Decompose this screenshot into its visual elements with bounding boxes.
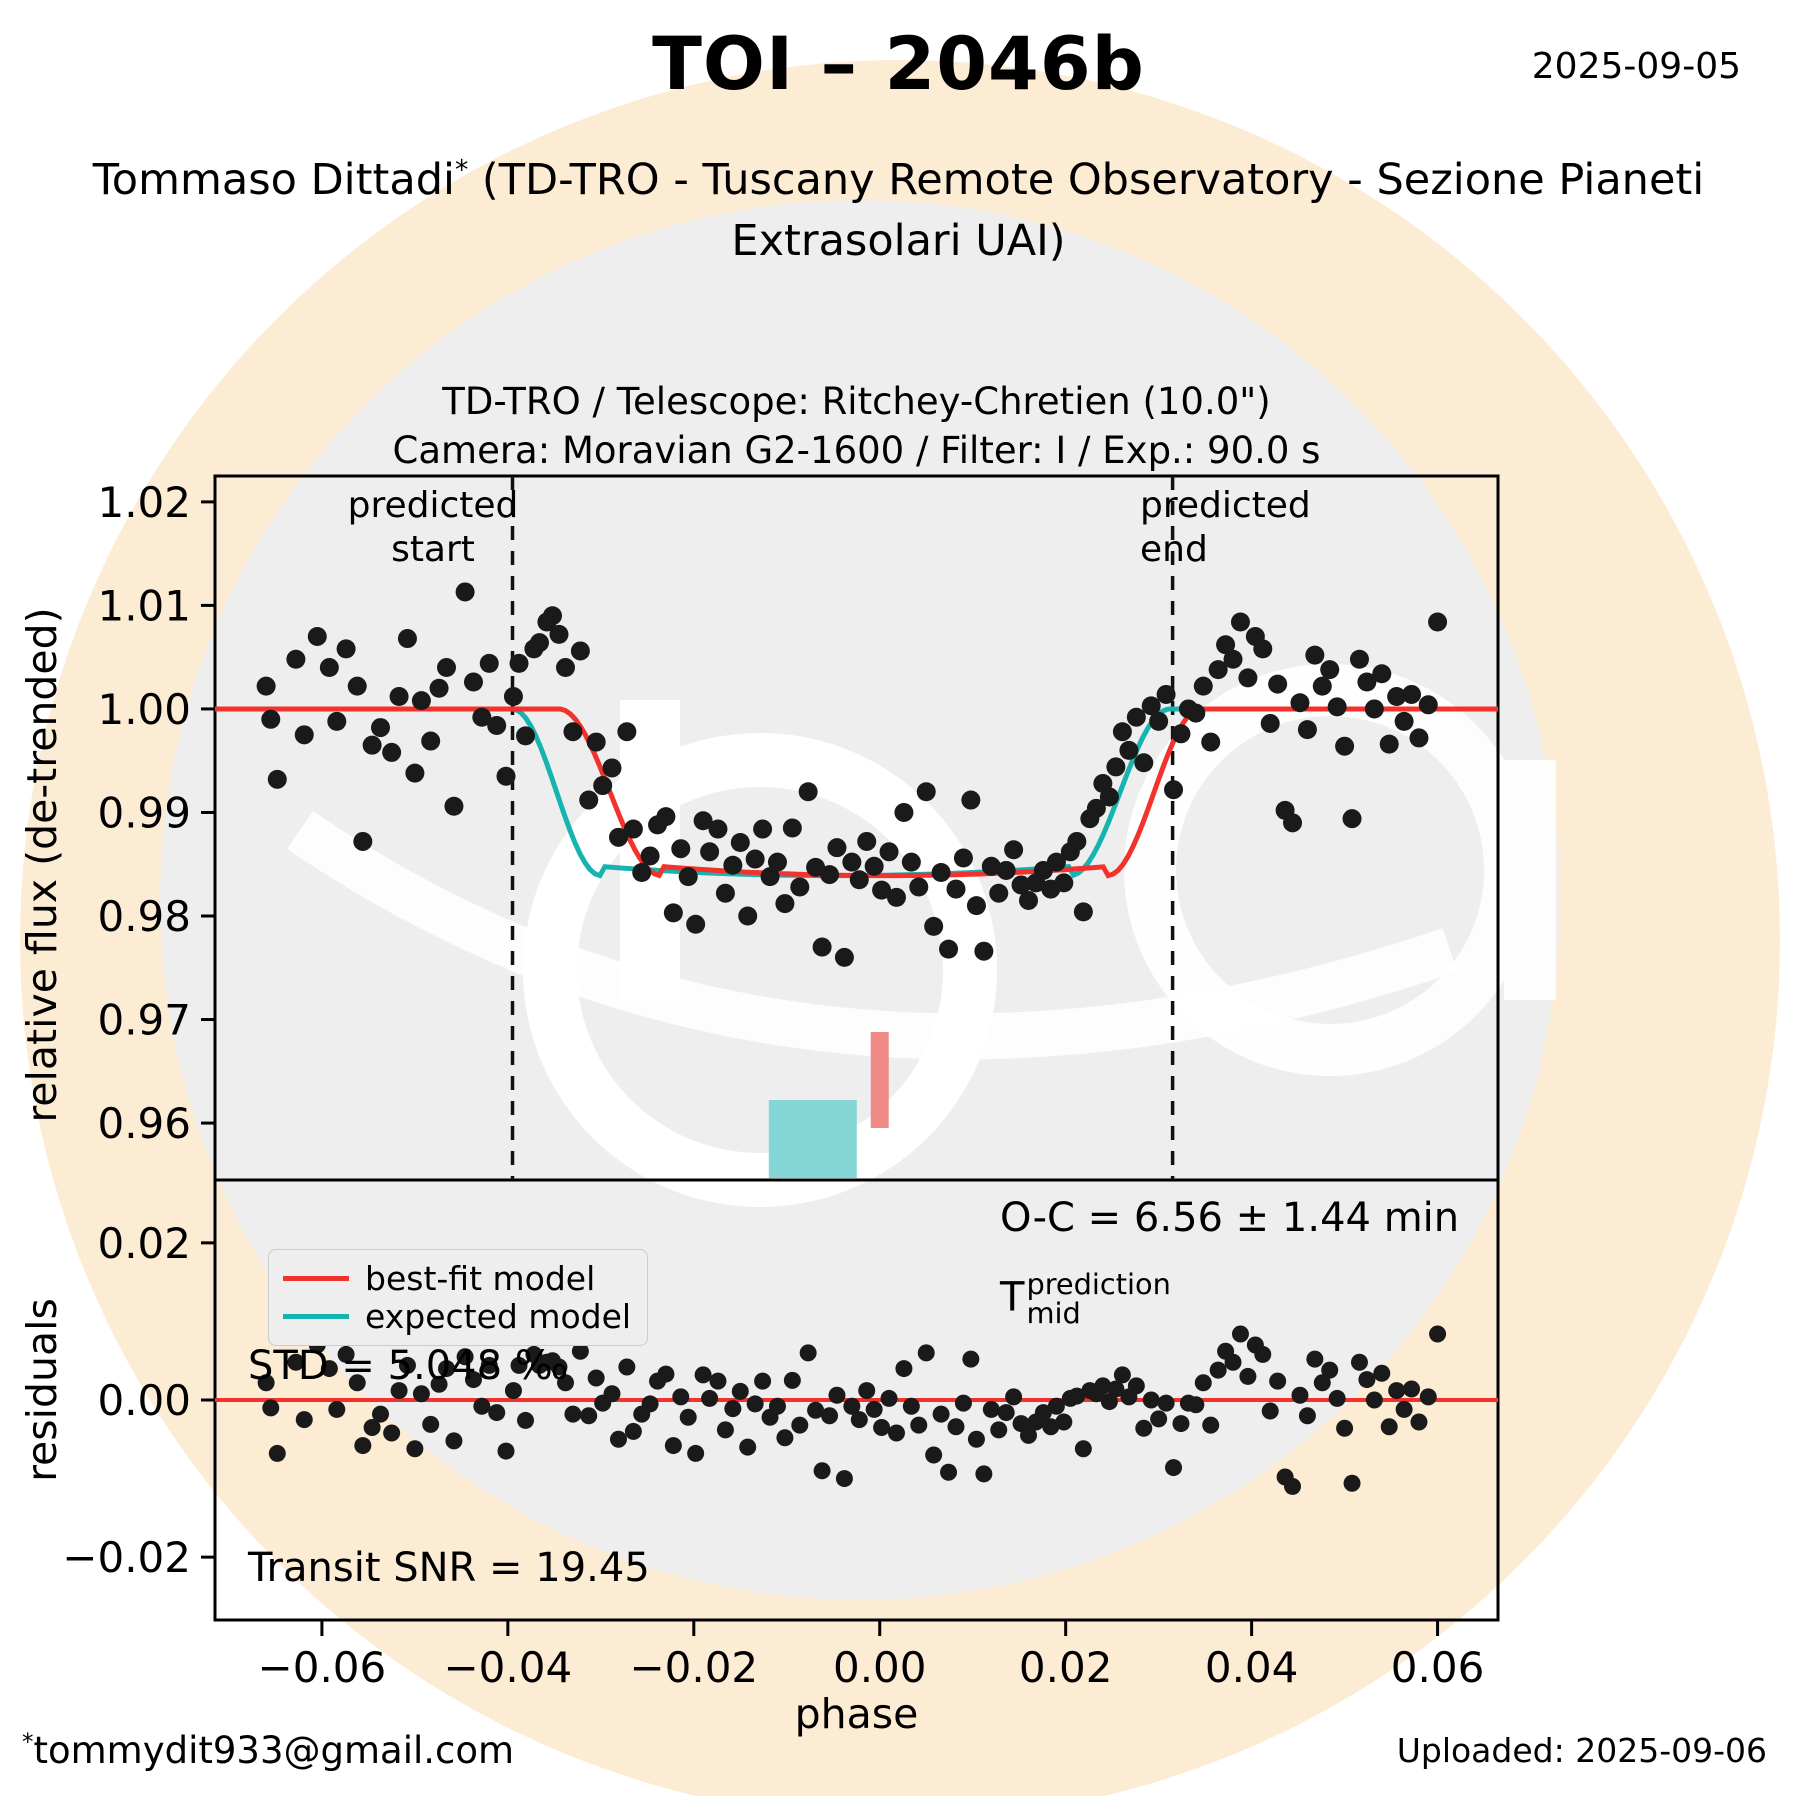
data-point xyxy=(954,849,973,868)
data-point xyxy=(679,867,698,886)
data-point xyxy=(1283,813,1302,832)
residual-point xyxy=(517,1412,534,1429)
data-point xyxy=(1419,695,1438,714)
residual-point xyxy=(717,1421,734,1438)
residual-point xyxy=(1336,1420,1353,1437)
legend-label-best-fit: best-fit model xyxy=(365,1259,595,1298)
residual-point xyxy=(1202,1417,1219,1434)
data-point xyxy=(1074,902,1093,921)
residual-point xyxy=(1055,1414,1072,1431)
data-point xyxy=(363,736,382,755)
residual-point xyxy=(687,1445,704,1462)
residual-point xyxy=(769,1398,786,1415)
page-title: TOI – 2046b xyxy=(0,22,1797,107)
residual-point xyxy=(657,1366,674,1383)
legend-item-best-fit: best-fit model xyxy=(283,1259,631,1297)
oc-annotation: O-C = 6.56 ± 1.44 min xyxy=(1000,1195,1459,1241)
legend-swatch-best-fit xyxy=(283,1276,349,1281)
data-point xyxy=(1224,650,1243,669)
y-tick-label-residual: 0.00 xyxy=(97,1376,191,1425)
residual-point xyxy=(836,1470,853,1487)
data-point xyxy=(989,884,1008,903)
residual-point xyxy=(918,1344,935,1361)
data-point xyxy=(671,839,690,858)
residual-point xyxy=(754,1373,771,1390)
data-point xyxy=(624,820,643,839)
main-panel-frame xyxy=(215,476,1498,1180)
y-tick-label-main: 0.98 xyxy=(97,892,191,941)
data-point xyxy=(563,722,582,741)
residual-point xyxy=(625,1423,642,1440)
data-point xyxy=(421,732,440,751)
data-point xyxy=(850,870,869,889)
residual-point xyxy=(1299,1407,1316,1424)
data-point xyxy=(444,797,463,816)
data-point xyxy=(1067,832,1086,851)
data-point xyxy=(1004,840,1023,859)
data-point xyxy=(686,915,705,934)
data-point xyxy=(405,764,424,783)
y-tick-label-main: 1.02 xyxy=(97,478,191,527)
residual-point xyxy=(776,1429,793,1446)
data-point xyxy=(320,658,339,677)
residual-point xyxy=(990,1421,1007,1438)
tmid-superscript: prediction xyxy=(1026,1270,1170,1299)
residual-point xyxy=(564,1406,581,1423)
y-tick-label-main: 1.00 xyxy=(97,685,191,734)
data-points-main xyxy=(257,582,1447,966)
x-tick-label: −0.06 xyxy=(258,1643,387,1692)
observation-date: 2025-09-05 xyxy=(1532,46,1741,87)
data-point xyxy=(1100,787,1119,806)
data-point xyxy=(902,853,921,872)
residual-point xyxy=(866,1401,883,1418)
data-point xyxy=(917,782,936,801)
data-point xyxy=(261,710,280,729)
residual-point xyxy=(1254,1346,1271,1363)
residual-point xyxy=(1396,1401,1413,1418)
data-point xyxy=(746,850,765,869)
tmid-prediction-box xyxy=(769,1100,857,1178)
data-point xyxy=(967,896,986,915)
data-point xyxy=(835,948,854,967)
data-point xyxy=(827,838,846,857)
residual-point xyxy=(445,1432,462,1449)
residual-point xyxy=(933,1406,950,1423)
data-point xyxy=(487,716,506,735)
y-tick-label-main: 0.99 xyxy=(97,788,191,837)
residual-point xyxy=(618,1359,635,1376)
data-point xyxy=(641,846,660,865)
residual-point xyxy=(1128,1377,1145,1394)
legend: best-fit model expected model xyxy=(268,1249,648,1346)
data-point xyxy=(497,767,516,786)
data-point xyxy=(664,903,683,922)
footer-footnote-marker: * xyxy=(22,1730,33,1756)
residual-point xyxy=(998,1404,1015,1421)
predicted-start-annotation: predicted start xyxy=(338,484,528,572)
data-point xyxy=(1372,664,1391,683)
data-point xyxy=(382,743,401,762)
residual-point xyxy=(610,1431,627,1448)
data-point xyxy=(308,627,327,646)
x-tick-label: −0.02 xyxy=(629,1643,758,1692)
residual-point xyxy=(983,1401,1000,1418)
data-point xyxy=(1350,650,1369,669)
data-point xyxy=(974,942,993,961)
subtitle-line-camera: Camera: Moravian G2-1600 / Filter: I / E… xyxy=(215,427,1498,476)
residual-point xyxy=(747,1395,764,1412)
residual-point xyxy=(910,1417,927,1434)
data-point xyxy=(820,865,839,884)
y-tick-label-residual: −0.02 xyxy=(62,1533,191,1582)
residual-point xyxy=(1329,1390,1346,1407)
data-point xyxy=(946,880,965,899)
data-point xyxy=(1290,693,1309,712)
data-point xyxy=(700,842,719,861)
residual-point xyxy=(1429,1326,1446,1343)
legend-item-expected: expected model xyxy=(283,1297,631,1335)
residual-point xyxy=(1262,1403,1279,1420)
residual-point xyxy=(498,1443,515,1460)
data-point xyxy=(1019,891,1038,910)
data-point xyxy=(556,658,575,677)
residual-point xyxy=(1232,1326,1249,1343)
predicted-end-line2: end xyxy=(1140,528,1311,572)
x-tick-label: −0.04 xyxy=(443,1643,572,1692)
residual-point xyxy=(1381,1418,1398,1435)
data-point xyxy=(327,712,346,731)
residual-point xyxy=(354,1437,371,1454)
x-tick-label: 0.06 xyxy=(1391,1643,1485,1692)
residual-point xyxy=(784,1372,801,1389)
author-affiliation-line: Tommaso Dittadi* (TD-TRO - Tuscany Remot… xyxy=(24,150,1773,272)
y-tick-label-main: 0.96 xyxy=(97,1099,191,1148)
data-point xyxy=(1395,712,1414,731)
data-point xyxy=(909,878,928,897)
residual-point xyxy=(962,1351,979,1368)
data-point xyxy=(716,884,735,903)
residual-point xyxy=(1358,1371,1375,1388)
residual-point xyxy=(603,1385,620,1402)
residual-point xyxy=(383,1425,400,1442)
data-point xyxy=(602,758,621,777)
residual-point xyxy=(947,1418,964,1435)
predicted-end-annotation: predicted end xyxy=(1140,484,1311,572)
residual-point xyxy=(881,1390,898,1407)
residual-point xyxy=(269,1445,286,1462)
data-point xyxy=(1201,733,1220,752)
data-point xyxy=(1194,677,1213,696)
x-tick-label: 0.04 xyxy=(1205,1643,1299,1692)
data-point xyxy=(768,853,787,872)
data-point xyxy=(1268,675,1287,694)
data-point xyxy=(1298,720,1317,739)
data-point xyxy=(1119,741,1138,760)
residual-point xyxy=(940,1464,957,1481)
data-point xyxy=(1428,612,1447,631)
residual-point xyxy=(296,1411,313,1428)
tmid-annotation: T prediction mid xyxy=(1000,1270,1171,1329)
residual-point xyxy=(1075,1440,1092,1457)
data-point xyxy=(632,863,651,882)
data-point xyxy=(1409,728,1428,747)
data-point xyxy=(437,658,456,677)
residual-point xyxy=(1165,1459,1182,1476)
residual-point xyxy=(488,1404,505,1421)
residual-point xyxy=(1269,1373,1286,1390)
data-point xyxy=(865,857,884,876)
oc-uncertainty-bar xyxy=(871,1032,889,1128)
data-point xyxy=(1134,753,1153,772)
residual-point xyxy=(888,1425,905,1442)
residual-point xyxy=(695,1366,712,1383)
residual-point xyxy=(1344,1475,1361,1492)
data-point xyxy=(1231,612,1250,631)
residual-point xyxy=(580,1407,597,1424)
residual-point xyxy=(1366,1392,1383,1409)
data-point xyxy=(504,687,523,706)
residual-point xyxy=(814,1462,831,1479)
residual-point xyxy=(1005,1388,1022,1405)
residual-point xyxy=(858,1382,875,1399)
residual-point xyxy=(1135,1420,1152,1437)
subtitle-line-telescope: TD-TRO / Telescope: Ritchey-Chretien (10… xyxy=(215,378,1498,427)
data-point xyxy=(1402,685,1421,704)
residual-point xyxy=(473,1398,490,1415)
data-point xyxy=(1186,704,1205,723)
data-point xyxy=(464,673,483,692)
data-point xyxy=(783,819,802,838)
data-point xyxy=(1380,735,1399,754)
data-point xyxy=(753,820,772,839)
data-point xyxy=(1320,660,1339,679)
residual-point xyxy=(1150,1410,1167,1427)
residual-point xyxy=(1239,1368,1256,1385)
residual-point xyxy=(724,1400,741,1417)
data-point xyxy=(656,807,675,826)
data-point xyxy=(842,853,861,872)
x-tick-label: 0.02 xyxy=(1019,1643,1113,1692)
affiliation-text: (TD-TRO - Tuscany Remote Observatory - S… xyxy=(468,155,1704,266)
legend-swatch-expected xyxy=(283,1314,349,1319)
residual-point xyxy=(925,1447,942,1464)
data-point xyxy=(617,722,636,741)
data-point xyxy=(1305,646,1324,665)
predicted-start-line2: start xyxy=(338,528,528,572)
data-point xyxy=(371,718,390,737)
snr-annotation: Transit SNR = 19.45 xyxy=(248,1545,650,1591)
residual-point xyxy=(732,1383,749,1400)
data-point xyxy=(1365,699,1384,718)
residual-point xyxy=(1291,1387,1308,1404)
data-point xyxy=(894,803,913,822)
residual-point xyxy=(672,1388,689,1405)
residual-point xyxy=(372,1406,389,1423)
data-point xyxy=(1106,757,1125,776)
residual-point xyxy=(665,1437,682,1454)
residual-point xyxy=(851,1411,868,1428)
residual-point xyxy=(1420,1388,1437,1405)
data-point xyxy=(295,725,314,744)
data-point xyxy=(887,888,906,907)
residual-point xyxy=(1114,1366,1131,1383)
residual-point xyxy=(588,1370,605,1387)
residual-point xyxy=(1195,1374,1212,1391)
data-point xyxy=(337,639,356,658)
residual-point xyxy=(828,1387,845,1404)
data-point xyxy=(1113,722,1132,741)
tmid-symbol: T xyxy=(1000,1274,1024,1320)
residual-point xyxy=(328,1401,345,1418)
data-point xyxy=(286,650,305,669)
residual-point xyxy=(406,1440,423,1457)
residual-point xyxy=(1210,1362,1227,1379)
data-point xyxy=(390,687,409,706)
data-point xyxy=(510,654,529,673)
data-point xyxy=(723,856,742,875)
residual-point xyxy=(1306,1351,1323,1368)
data-point xyxy=(530,633,549,652)
residual-point xyxy=(1284,1478,1301,1495)
legend-label-expected: expected model xyxy=(365,1297,631,1336)
data-point xyxy=(932,863,951,882)
data-point xyxy=(1313,677,1332,696)
predicted-end-line1: predicted xyxy=(1140,484,1311,528)
residual-point xyxy=(955,1395,972,1412)
data-point xyxy=(480,654,499,673)
data-point xyxy=(775,894,794,913)
residual-point xyxy=(821,1407,838,1424)
residual-point xyxy=(1351,1354,1368,1371)
residual-point xyxy=(1143,1392,1160,1409)
residual-point xyxy=(422,1416,439,1433)
data-point xyxy=(579,791,598,810)
data-point xyxy=(708,820,727,839)
residual-point xyxy=(1187,1396,1204,1413)
data-point xyxy=(1335,737,1354,756)
residual-point xyxy=(739,1439,756,1456)
data-point xyxy=(799,782,818,801)
residual-point xyxy=(1388,1382,1405,1399)
data-point xyxy=(549,625,568,644)
std-annotation: STD = 5.048 ‰ xyxy=(248,1343,568,1389)
data-point xyxy=(880,842,899,861)
residual-point xyxy=(262,1399,279,1416)
data-point xyxy=(1253,639,1272,658)
residual-point xyxy=(709,1373,726,1390)
residual-point xyxy=(1373,1365,1390,1382)
residual-point xyxy=(903,1398,920,1415)
data-point xyxy=(543,606,562,625)
data-point xyxy=(924,917,943,936)
residual-point xyxy=(791,1417,808,1434)
residual-point xyxy=(873,1419,890,1436)
data-point xyxy=(1164,780,1183,799)
data-point xyxy=(1171,724,1190,743)
residual-point xyxy=(975,1465,992,1482)
data-point xyxy=(939,940,958,959)
data-point xyxy=(593,776,612,795)
data-point xyxy=(857,832,876,851)
data-point xyxy=(1343,809,1362,828)
residual-point xyxy=(642,1395,659,1412)
y-tick-label-main: 1.01 xyxy=(97,581,191,630)
data-point xyxy=(1054,873,1073,892)
data-point xyxy=(257,677,276,696)
footer-email-text: tommydit933@gmail.com xyxy=(33,1729,514,1772)
residual-point xyxy=(968,1431,985,1448)
data-point xyxy=(412,691,431,710)
residual-point xyxy=(1225,1354,1242,1371)
data-point xyxy=(430,679,449,698)
data-point xyxy=(738,907,757,926)
data-point xyxy=(456,582,475,601)
predicted-start-line1: predicted xyxy=(338,484,528,528)
data-point xyxy=(790,878,809,897)
data-point xyxy=(348,677,367,696)
residual-point xyxy=(701,1390,718,1407)
data-point xyxy=(813,938,832,957)
data-point xyxy=(516,726,535,745)
data-point xyxy=(731,833,750,852)
data-point xyxy=(1238,668,1257,687)
plot-subtitle: TD-TRO / Telescope: Ritchey-Chretien (10… xyxy=(215,378,1498,476)
data-point xyxy=(398,629,417,648)
footer-email: *tommydit933@gmail.com xyxy=(22,1729,514,1772)
residual-point xyxy=(1158,1395,1175,1412)
footer-upload-date: Uploaded: 2025-09-06 xyxy=(1397,1731,1767,1770)
data-point xyxy=(961,791,980,810)
y-tick-label-main: 0.97 xyxy=(97,996,191,1045)
data-point xyxy=(1328,697,1347,716)
residual-point xyxy=(1403,1381,1420,1398)
residual-point xyxy=(1172,1415,1189,1432)
x-tick-label: 0.00 xyxy=(833,1643,927,1692)
data-point xyxy=(571,641,590,660)
data-point xyxy=(1149,712,1168,731)
residual-point xyxy=(680,1409,697,1426)
residual-point xyxy=(895,1360,912,1377)
residual-point xyxy=(1321,1362,1338,1379)
data-point xyxy=(268,770,287,789)
author-footnote-marker: * xyxy=(455,155,468,186)
data-point xyxy=(1261,714,1280,733)
data-point xyxy=(353,832,372,851)
residual-point xyxy=(1410,1414,1427,1431)
data-point xyxy=(587,733,606,752)
tmid-subscript: mid xyxy=(1026,1299,1170,1328)
author-name: Tommaso Dittadi xyxy=(93,155,455,205)
data-point xyxy=(1157,685,1176,704)
y-tick-label-residual: 0.02 xyxy=(97,1219,191,1268)
data-point xyxy=(997,861,1016,880)
residual-point xyxy=(800,1344,817,1361)
